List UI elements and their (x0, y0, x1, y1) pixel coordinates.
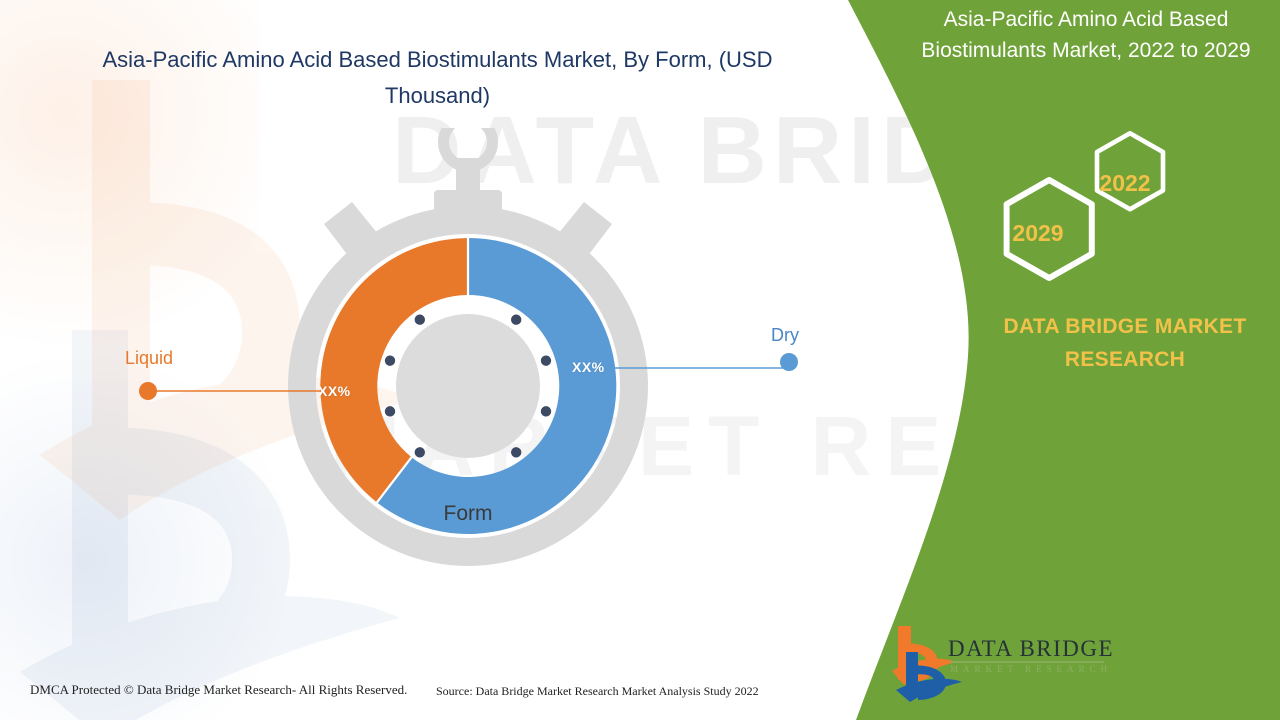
callout-label-liquid: Liquid (125, 348, 173, 369)
donut-chart: Form (248, 128, 688, 598)
infographic-canvas: DATA BRIDGE MARKET RESEARCH Asia-Pacific… (0, 0, 1280, 720)
data-bridge-logo: DATA BRIDGE MARKET RESEARCH (890, 622, 1110, 702)
panel-brand-line-1: DATA BRIDGE MARKET (960, 310, 1280, 343)
hexagon-start-year-label: 2022 (1088, 170, 1162, 197)
chart-title: Asia-Pacific Amino Acid Based Biostimula… (60, 42, 815, 114)
donut-hub (396, 314, 540, 458)
logo-tagline: MARKET RESEARCH (950, 664, 1112, 674)
panel-brand-text: DATA BRIDGE MARKET RESEARCH (960, 310, 1280, 376)
panel-title: Asia-Pacific Amino Acid Based Biostimula… (900, 4, 1272, 66)
hexagon-end-year-label: 2029 (998, 220, 1078, 247)
slice-value-dry: XX% (572, 359, 605, 375)
footer-source-text: Source: Data Bridge Market Research Mark… (436, 684, 759, 699)
slice-value-liquid: XX% (318, 383, 351, 399)
callout-label-dry: Dry (771, 325, 799, 346)
year-hexagons: 2022 2029 (980, 128, 1180, 284)
donut-center-label: Form (248, 502, 688, 526)
logo-mark-orange (892, 626, 956, 685)
footer-dmca-text: DMCA Protected © Data Bridge Market Rese… (30, 682, 407, 698)
panel-brand-line-2: RESEARCH (960, 343, 1280, 376)
logo-name: DATA BRIDGE (948, 636, 1114, 662)
